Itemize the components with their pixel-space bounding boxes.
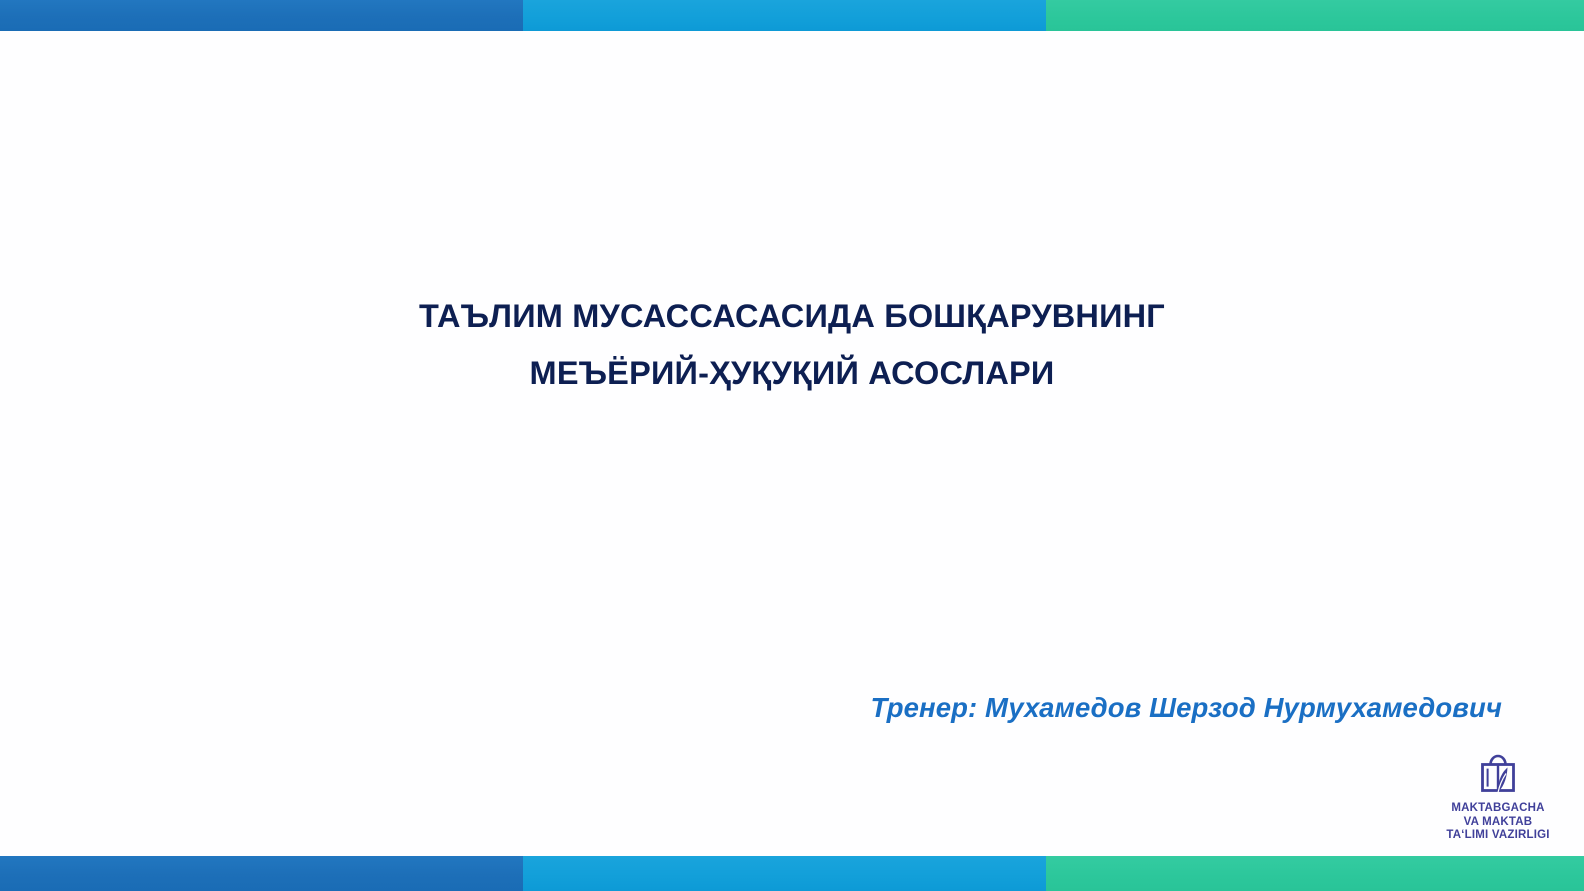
presenter-name: Тренер: Мухамедов Шерзод Нурмухамедович <box>871 692 1503 724</box>
bottom-bar-segment-blue <box>0 856 523 891</box>
top-bar-segment-blue <box>0 0 523 31</box>
top-bar-segment-cyan <box>523 0 1046 31</box>
slide-title-line-2: МЕЪЁРИЙ-ҲУҚУҚИЙ АСОСЛАРИ <box>0 345 1584 402</box>
top-color-bar <box>0 0 1584 31</box>
open-book-flame-emblem-icon <box>1474 752 1522 798</box>
ministry-logo-line-1: MAKTABGACHA <box>1424 802 1572 816</box>
ministry-logo-line-3: TA‘LIMI VAZIRLIGI <box>1424 829 1572 843</box>
presentation-slide: ТАЪЛИМ МУСАССАСАСИДА БОШҚАРУВНИНГ МЕЪЁРИ… <box>0 0 1584 891</box>
top-bar-segment-green <box>1046 0 1584 31</box>
bottom-bar-segment-cyan <box>523 856 1046 891</box>
slide-title: ТАЪЛИМ МУСАССАСАСИДА БОШҚАРУВНИНГ МЕЪЁРИ… <box>0 288 1584 402</box>
slide-title-line-1: ТАЪЛИМ МУСАССАСАСИДА БОШҚАРУВНИНГ <box>0 288 1584 345</box>
bottom-color-bar <box>0 856 1584 891</box>
ministry-logo-line-2: VA MAKTAB <box>1424 816 1572 830</box>
bottom-bar-segment-green <box>1046 856 1584 891</box>
ministry-logo: MAKTABGACHA VA MAKTAB TA‘LIMI VAZIRLIGI <box>1424 752 1572 843</box>
